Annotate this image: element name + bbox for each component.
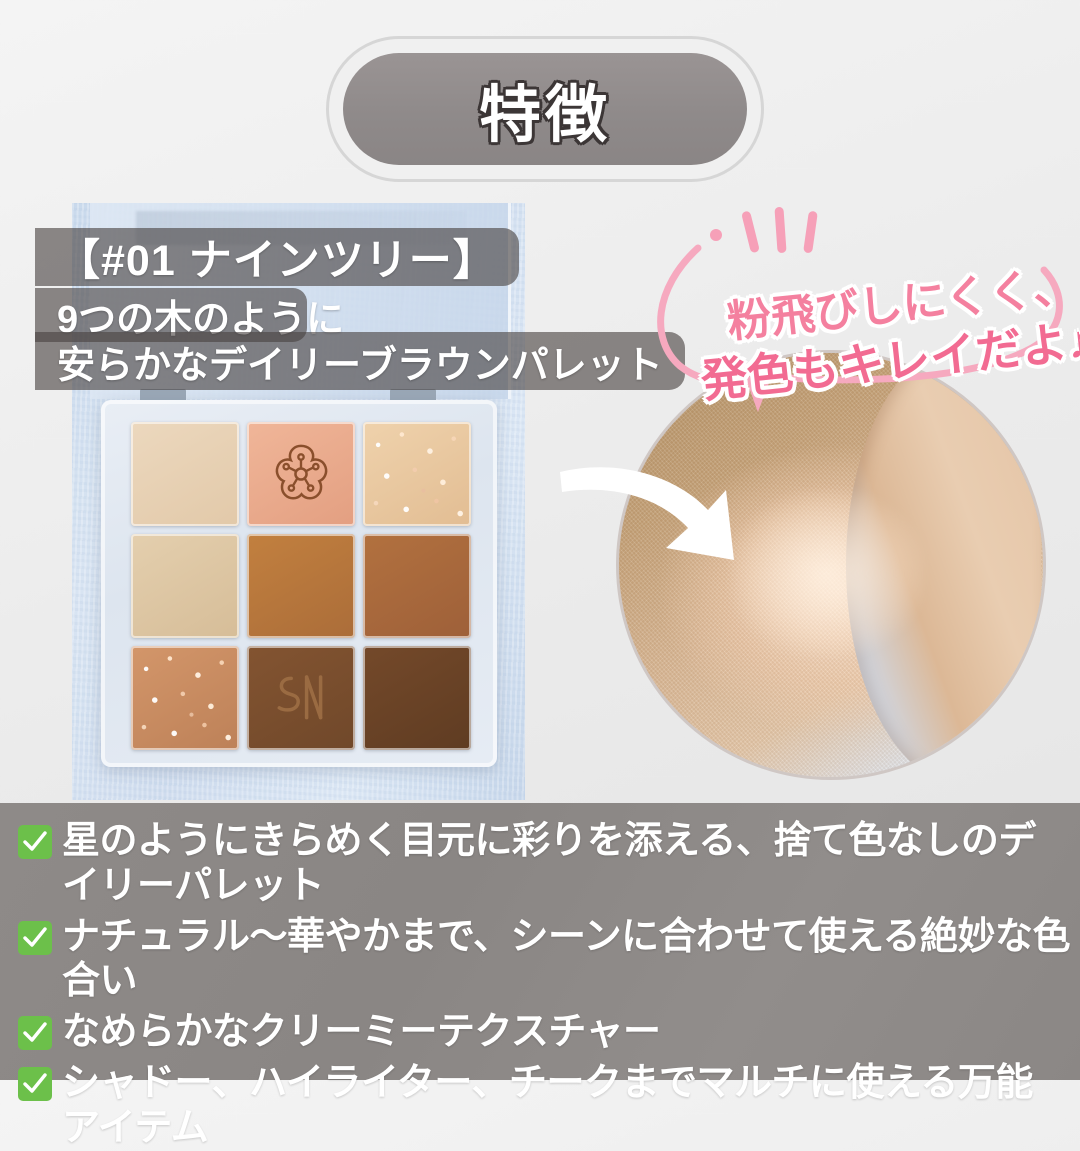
features-panel: 星のようにきらめく目元に彩りを添える、捨て色なしのデイリーパレット ナチュラル〜… xyxy=(0,803,1080,1080)
check-icon xyxy=(18,825,52,859)
pan-deep-cocoa-matte xyxy=(363,646,471,750)
feature-item: ナチュラル〜華やかまで、シーンに合わせて使える絶妙な色合い xyxy=(10,915,1070,1005)
check-icon xyxy=(18,1016,52,1050)
section-header-pill: 特徴 xyxy=(326,36,764,182)
feature-text: 星のようにきらめく目元に彩りを添える、捨て色なしのデイリーパレット xyxy=(62,819,1070,909)
product-caption-line-3: 安らかなデイリーブラウンパレット xyxy=(35,332,685,390)
feature-text: ナチュラル〜華やかまで、シーンに合わせて使える絶妙な色合い xyxy=(62,915,1070,1005)
product-caption-line-1: 【#01 ナインツリー】 xyxy=(35,228,519,286)
feature-item: なめらかなクリーミーテクスチャー xyxy=(10,1010,1070,1055)
header-pill-inner: 特徴 xyxy=(343,53,747,165)
pan-cream-matte xyxy=(131,422,239,526)
flower-emboss-icon xyxy=(247,422,355,526)
feature-item: シャドー、ハイライター、チークまでマルチに使える万能アイテム xyxy=(10,1061,1070,1151)
pan-peach-shimmer xyxy=(247,422,355,526)
feature-text: シャドー、ハイライター、チークまでマルチに使える万能アイテム xyxy=(62,1061,1070,1151)
post-canvas: 特徴 xyxy=(0,0,1080,1080)
eyeshadow-palette xyxy=(101,400,497,767)
check-icon xyxy=(18,921,52,955)
page-title: 特徴 xyxy=(479,64,611,154)
pan-dark-brown-logo xyxy=(247,646,355,750)
pan-grid xyxy=(131,422,471,750)
feature-item: 星のようにきらめく目元に彩りを添える、捨て色なしのデイリーパレット xyxy=(10,819,1070,909)
pan-champagne-glitter xyxy=(363,422,471,526)
pan-caramel-matte xyxy=(247,534,355,638)
pan-warm-brown-matte xyxy=(363,534,471,638)
sparkle-ticks-icon xyxy=(700,205,840,285)
pan-light-beige-matte xyxy=(131,534,239,638)
check-icon xyxy=(18,1067,52,1101)
pan-rose-gold-glitter xyxy=(131,646,239,750)
feature-text: なめらかなクリーミーテクスチャー xyxy=(62,1010,660,1055)
brand-logo-emboss-icon xyxy=(247,646,355,750)
curved-arrow-icon xyxy=(558,428,778,588)
